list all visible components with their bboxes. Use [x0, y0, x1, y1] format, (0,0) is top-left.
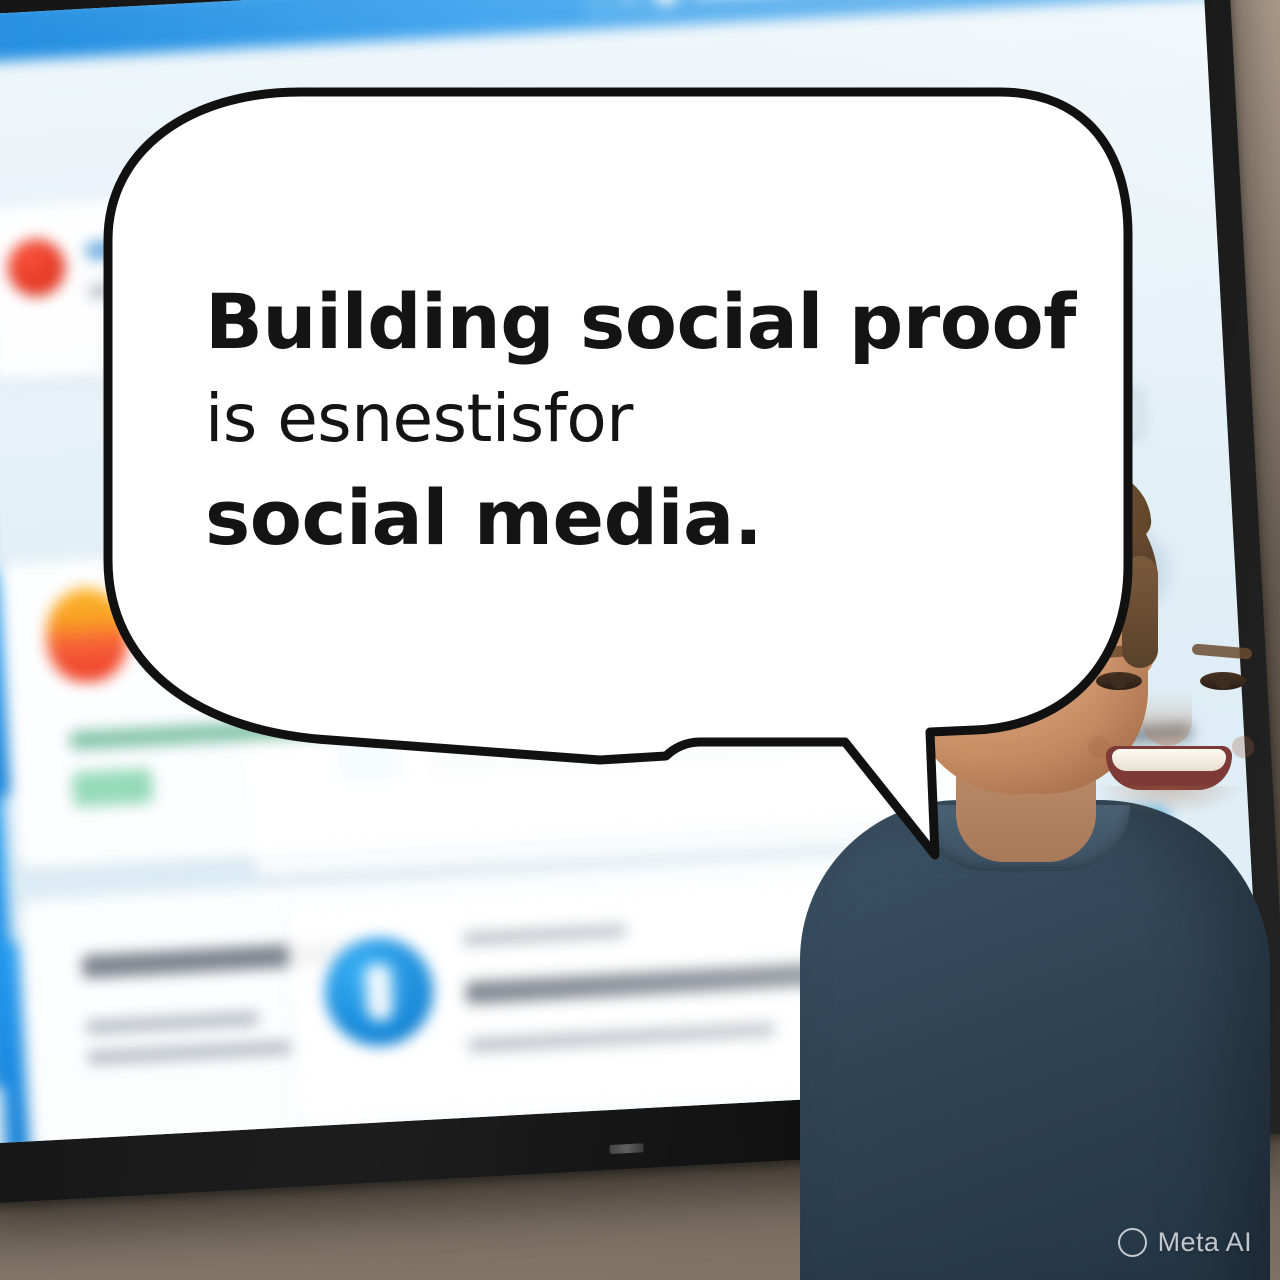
eye-left	[1096, 672, 1142, 690]
bubble-line-3: social media.	[205, 475, 1065, 560]
envelope-check-icon[interactable]	[1081, 390, 1143, 440]
meta-ring-icon	[1118, 1228, 1147, 1257]
card-accent-bar	[0, 941, 29, 1144]
card-title	[86, 231, 301, 260]
card-eyebrow	[463, 924, 627, 945]
avatar-glyph	[364, 964, 394, 1022]
hair-side-right	[1122, 556, 1158, 668]
watermark-label: Meta AI	[1158, 1227, 1252, 1258]
eye-right	[1200, 672, 1246, 690]
card-subtitle	[159, 627, 465, 658]
smiling-mouth	[1106, 746, 1232, 790]
meta-ai-watermark: Meta AI	[1118, 1227, 1252, 1258]
smile-crease-right	[1232, 736, 1254, 758]
card-meta	[70, 714, 407, 751]
bubble-line-1: Building social proof	[205, 282, 1065, 363]
card-line-2	[87, 1041, 291, 1065]
topbar-active-tab[interactable]	[583, 0, 952, 18]
card-title	[156, 579, 330, 607]
chin-shadow	[1096, 786, 1242, 816]
person-presenter	[770, 470, 1280, 1280]
card-subtitle	[468, 1023, 774, 1053]
screenshot-stage: Building social proof is esnestisfor soc…	[0, 0, 1280, 1280]
torso	[800, 800, 1270, 1280]
card-line-1	[85, 1012, 259, 1035]
status-badge	[72, 768, 153, 807]
card-accent-bar	[0, 572, 10, 797]
red-circle-icon	[6, 238, 66, 298]
hair-side-left	[898, 556, 934, 668]
bubble-line-2: is esnestisfor	[205, 377, 1065, 461]
tv-brand-logo	[609, 1143, 643, 1154]
nose	[1142, 690, 1192, 746]
speech-bubble-text: Building social proof is esnestisfor soc…	[205, 282, 1065, 560]
eyebrow-right	[1192, 643, 1253, 659]
teeth	[1112, 749, 1226, 771]
flame-gradient-icon	[44, 586, 131, 684]
